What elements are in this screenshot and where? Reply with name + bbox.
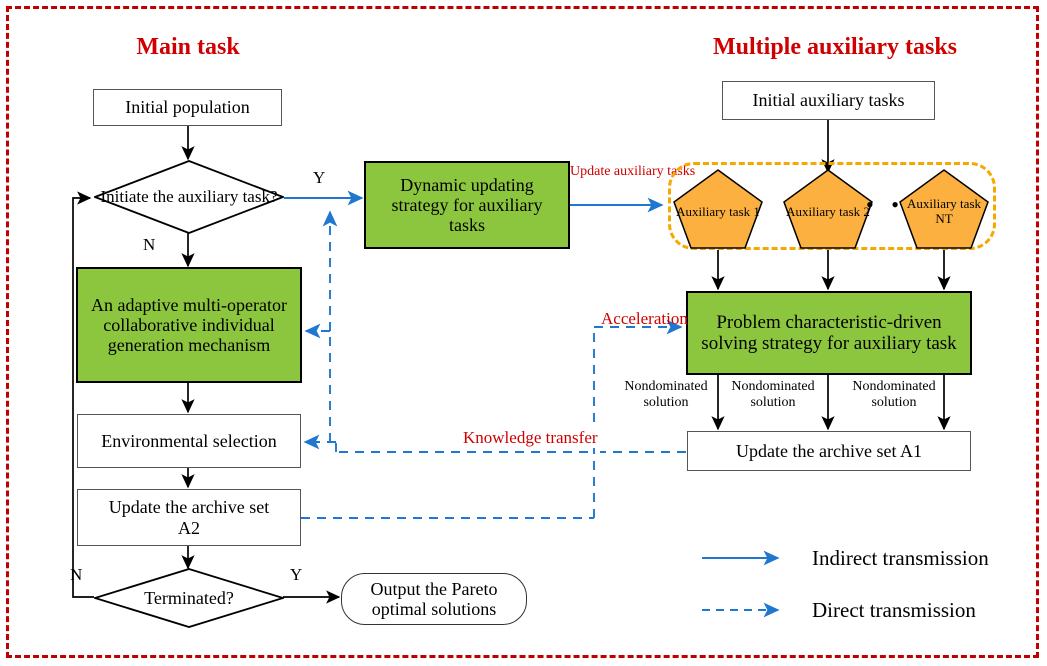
update-archive-a2-box[interactable]: Update the archive set A2 [77, 489, 301, 546]
legend-indirect-transmission-label: Indirect transmission [812, 546, 989, 571]
auxiliary-task-nt-label: Auxiliary task NT [898, 168, 990, 250]
decision-no-label: N [143, 235, 155, 255]
nondominated-solution-label-1: Nondominated solution [615, 379, 717, 410]
initial-population-box[interactable]: Initial population [93, 89, 282, 126]
legend-direct-transmission-label: Direct transmission [812, 598, 976, 623]
auxiliary-task-1[interactable]: Auxiliary task 1 [672, 168, 764, 250]
adaptive-mechanism-box[interactable]: An adaptive multi-operator collaborative… [76, 267, 302, 383]
terminated-yes-label: Y [290, 565, 302, 585]
environmental-selection-box[interactable]: Environmental selection [77, 414, 301, 468]
update-auxiliary-tasks-label: Update auxiliary tasks [570, 164, 664, 180]
problem-characteristic-box[interactable]: Problem characteristic-driven solving st… [686, 291, 972, 375]
decision-label: Initiate the auxiliary task? [94, 160, 284, 234]
knowledge-transfer-label: Knowledge transfer [460, 428, 601, 448]
output-pareto-box[interactable]: Output the Pareto optimal solutions [341, 573, 527, 625]
nondominated-solution-label-2: Nondominated solution [722, 379, 824, 410]
terminated-no-label: N [70, 565, 82, 585]
acceleration-label: Acceleration [601, 309, 688, 329]
auxiliary-task-2[interactable]: Auxiliary task 2 [782, 168, 874, 250]
auxiliary-task-2-label: Auxiliary task 2 [782, 168, 874, 250]
main-task-heading: Main task [93, 34, 283, 61]
auxiliary-task-1-label: Auxiliary task 1 [672, 168, 764, 250]
dynamic-updating-strategy-box[interactable]: Dynamic updating strategy for auxiliary … [364, 161, 570, 249]
terminated-decision[interactable]: Terminated? [94, 568, 284, 628]
auxiliary-task-nt[interactable]: Auxiliary task NT [898, 168, 990, 250]
flowchart-canvas: Main task Multiple auxiliary tasks Initi… [0, 0, 1047, 666]
nondominated-solution-label-3: Nondominated solution [843, 379, 945, 410]
update-archive-a1-box[interactable]: Update the archive set A1 [687, 431, 971, 471]
initial-auxiliary-tasks-box[interactable]: Initial auxiliary tasks [722, 81, 935, 120]
auxiliary-task-heading: Multiple auxiliary tasks [670, 34, 1000, 61]
terminated-label: Terminated? [94, 568, 284, 628]
initiate-auxiliary-task-decision[interactable]: Initiate the auxiliary task? [94, 160, 284, 234]
decision-yes-label: Y [313, 168, 325, 188]
